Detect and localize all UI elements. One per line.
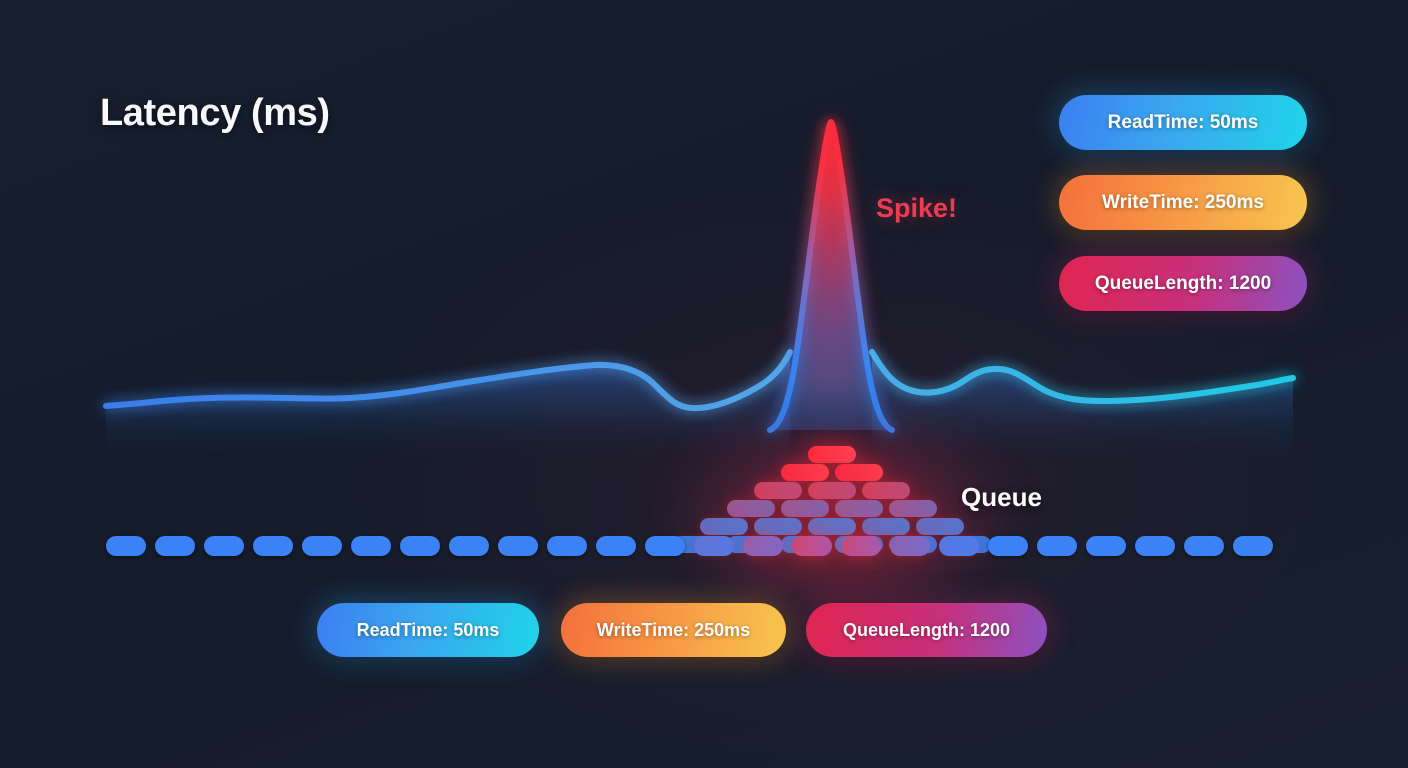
latency-area-fill bbox=[106, 352, 790, 455]
footer-pill-readtime[interactable]: ReadTime: 50ms bbox=[317, 603, 539, 657]
latency-line-left bbox=[106, 352, 790, 408]
queue-brick bbox=[781, 500, 829, 517]
latency-line-right bbox=[872, 352, 1293, 401]
queue-brick bbox=[700, 518, 748, 535]
queue-brick bbox=[781, 464, 829, 481]
baseline-dash bbox=[155, 536, 195, 556]
baseline-dash bbox=[939, 536, 979, 556]
queue-brick bbox=[916, 518, 964, 535]
footer-pill-readtime-label: ReadTime: 50ms bbox=[357, 620, 500, 641]
legend-pill-readtime[interactable]: ReadTime: 50ms bbox=[1059, 95, 1307, 150]
footer-pill-writetime-label: WriteTime: 250ms bbox=[597, 620, 750, 641]
baseline-dash bbox=[743, 536, 783, 556]
baseline-dash bbox=[792, 536, 832, 556]
legend-pill-writetime[interactable]: WriteTime: 250ms bbox=[1059, 175, 1307, 230]
queue-brick bbox=[862, 518, 910, 535]
baseline-dash bbox=[645, 536, 685, 556]
visualization-canvas: Latency (ms) Spike! Queue ReadTime: 50ms… bbox=[0, 0, 1408, 768]
baseline-dash bbox=[890, 536, 930, 556]
spike-annotation-label: Spike! bbox=[876, 193, 957, 224]
baseline-dash bbox=[1135, 536, 1175, 556]
legend-pill-readtime-label: ReadTime: 50ms bbox=[1108, 112, 1259, 134]
baseline-dash bbox=[1037, 536, 1077, 556]
spike-glow bbox=[790, 122, 872, 400]
baseline-dash bbox=[1233, 536, 1273, 556]
baseline-dash-track bbox=[106, 536, 1282, 556]
baseline-dash bbox=[988, 536, 1028, 556]
baseline-dash bbox=[253, 536, 293, 556]
baseline-dash bbox=[351, 536, 391, 556]
queue-brick bbox=[835, 500, 883, 517]
chart-title: Latency (ms) bbox=[100, 92, 330, 135]
queue-brick bbox=[808, 518, 856, 535]
baseline-dash bbox=[841, 536, 881, 556]
baseline-dash bbox=[204, 536, 244, 556]
queue-brick bbox=[727, 500, 775, 517]
baseline-dash bbox=[1086, 536, 1126, 556]
baseline-dash bbox=[1184, 536, 1224, 556]
queue-brick bbox=[754, 518, 802, 535]
baseline-dash bbox=[694, 536, 734, 556]
latency-area-fill-right bbox=[872, 352, 1293, 455]
queue-brick bbox=[889, 500, 937, 517]
footer-pill-writetime[interactable]: WriteTime: 250ms bbox=[561, 603, 786, 657]
legend-pill-writetime-label: WriteTime: 250ms bbox=[1102, 192, 1264, 214]
baseline-dash bbox=[498, 536, 538, 556]
spike-outline bbox=[770, 122, 892, 430]
queue-brick bbox=[754, 482, 802, 499]
baseline-dash bbox=[302, 536, 342, 556]
baseline-dash bbox=[596, 536, 636, 556]
queue-brick bbox=[808, 482, 856, 499]
legend-pill-queuelength-label: QueueLength: 1200 bbox=[1095, 273, 1271, 295]
baseline-dash bbox=[547, 536, 587, 556]
baseline-dash bbox=[449, 536, 489, 556]
spike-area-fill bbox=[770, 122, 892, 430]
queue-brick bbox=[835, 464, 883, 481]
queue-annotation-label: Queue bbox=[961, 482, 1042, 513]
legend-pill-queuelength[interactable]: QueueLength: 1200 bbox=[1059, 256, 1307, 311]
footer-pill-queuelength[interactable]: QueueLength: 1200 bbox=[806, 603, 1047, 657]
footer-pill-queuelength-label: QueueLength: 1200 bbox=[843, 620, 1010, 641]
queue-brick bbox=[808, 446, 856, 463]
queue-brick bbox=[862, 482, 910, 499]
baseline-dash bbox=[400, 536, 440, 556]
baseline-dash bbox=[106, 536, 146, 556]
